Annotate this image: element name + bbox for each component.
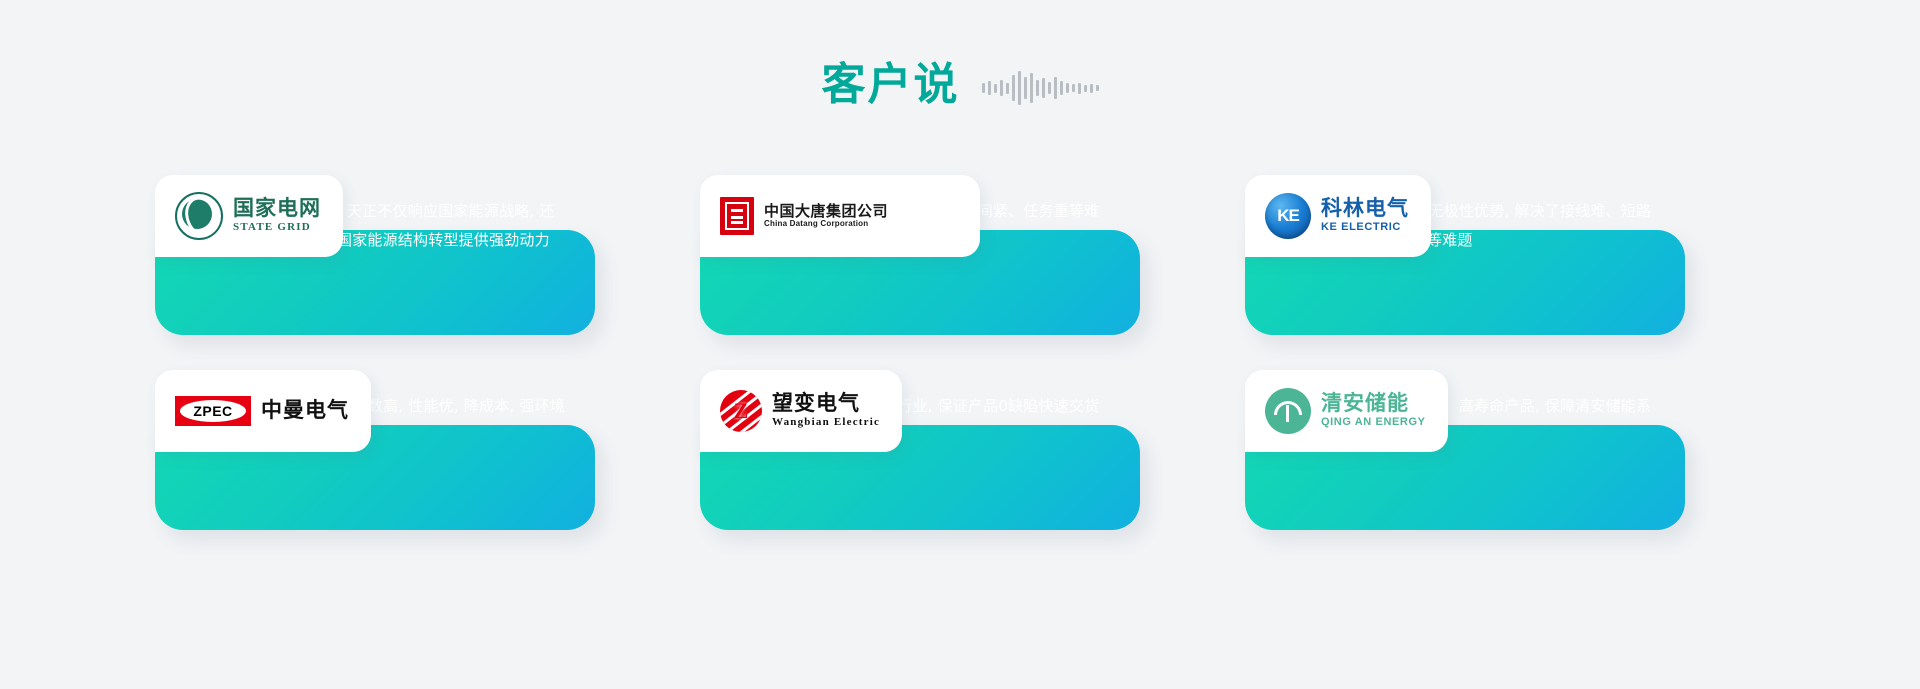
waveform-bar: [1000, 80, 1003, 96]
waveform-bar: [1042, 78, 1045, 98]
customer-logo-plate: Z 望变电气 Wangbian Electric: [700, 370, 902, 452]
section-header: 客户说: [0, 62, 1920, 108]
qingan-umbrella-icon: [1265, 388, 1311, 434]
customer-name-en: QING AN ENERGY: [1321, 415, 1426, 429]
waveform-bar: [1096, 85, 1099, 91]
customer-name-cn: 清安储能: [1321, 392, 1426, 415]
zpec-oval-icon: ZPEC: [175, 396, 251, 426]
waveform-bar: [1012, 75, 1015, 101]
waveform-bar: [1054, 77, 1057, 99]
customer-name-en: China Datang Corporation: [764, 219, 888, 229]
customer-name-cn: 科林电气: [1321, 197, 1409, 220]
wangbian-circle-icon: Z: [720, 390, 762, 432]
customer-name-en: ZPEC: [180, 400, 246, 422]
testimonial-card[interactable]: 天正智造和智能仓储领先行业, 保证产品0缺陷快速交货 Z 望变电气 Wangbi…: [700, 370, 1140, 530]
waveform-bar: [1018, 71, 1021, 105]
waveform-bar: [1006, 83, 1009, 94]
customer-name-cn: 望变电气: [772, 392, 880, 415]
testimonial-card[interactable]: 天正NEXTG3系列微断无极性优势, 解决了接线难、短路保护失效和运维成本高等难…: [1245, 175, 1685, 335]
waveform-bar: [1024, 77, 1027, 99]
customer-name-cn: 国家电网: [233, 197, 321, 220]
customer-name-en: STATE GRID: [233, 220, 321, 234]
testimonial-card[interactable]: 6个月项目周期, 天正攻克环境差、时间紧、任务重等难题, 推动项目成功并网及智能…: [700, 175, 1140, 335]
waveform-bar: [1036, 80, 1039, 96]
customer-logo-plate: ZPEC 中曼电气: [155, 370, 371, 452]
waveform-bar: [988, 81, 991, 95]
testimonial-card[interactable]: TG3系列行业平台型产品参数高, 性能优, 降成本, 强环境适应力, 满足石油行…: [155, 370, 595, 530]
waveform-bar: [1090, 84, 1093, 93]
waveform-bar: [1048, 82, 1051, 94]
waveform-bar: [982, 83, 985, 93]
ke-electric-badge-icon: KE: [1265, 193, 1311, 239]
waveform-bar: [1078, 83, 1081, 94]
state-grid-globe-icon: [175, 192, 223, 240]
customer-logo-plate: 中国大唐集团公司 China Datang Corporation: [700, 175, 980, 257]
audio-waveform-icon: [982, 68, 1099, 108]
customer-name-en: KE ELECTRIC: [1321, 220, 1409, 234]
testimonial-card-grid: 作为电气行业龙头企业, 天正不仅响应国家能源战略, 还为新型电力系统建设和国家能…: [155, 175, 1775, 530]
waveform-bar: [1030, 73, 1033, 103]
page-title: 客户说: [822, 63, 960, 107]
waveform-bar: [1084, 85, 1087, 92]
customer-name-cn: 中曼电气: [261, 399, 349, 422]
customer-name-en: Wangbian Electric: [772, 415, 880, 429]
waveform-bar: [994, 84, 997, 93]
waveform-bar: [1060, 81, 1063, 95]
datang-seal-icon: [720, 197, 754, 235]
waveform-bar: [1066, 83, 1069, 93]
customer-name-cn: 中国大唐集团公司: [764, 203, 888, 220]
waveform-bar: [1072, 84, 1075, 92]
testimonial-card[interactable]: 天正NEXTG3系列高分断、高寿命产品, 保障清安储能系统安全可靠运行 清安储能…: [1245, 370, 1685, 530]
testimonial-card[interactable]: 作为电气行业龙头企业, 天正不仅响应国家能源战略, 还为新型电力系统建设和国家能…: [155, 175, 595, 335]
customer-logo-plate: 国家电网 STATE GRID: [155, 175, 343, 257]
customer-logo-plate: 清安储能 QING AN ENERGY: [1245, 370, 1448, 452]
customer-logo-plate: KE 科林电气 KE ELECTRIC: [1245, 175, 1431, 257]
